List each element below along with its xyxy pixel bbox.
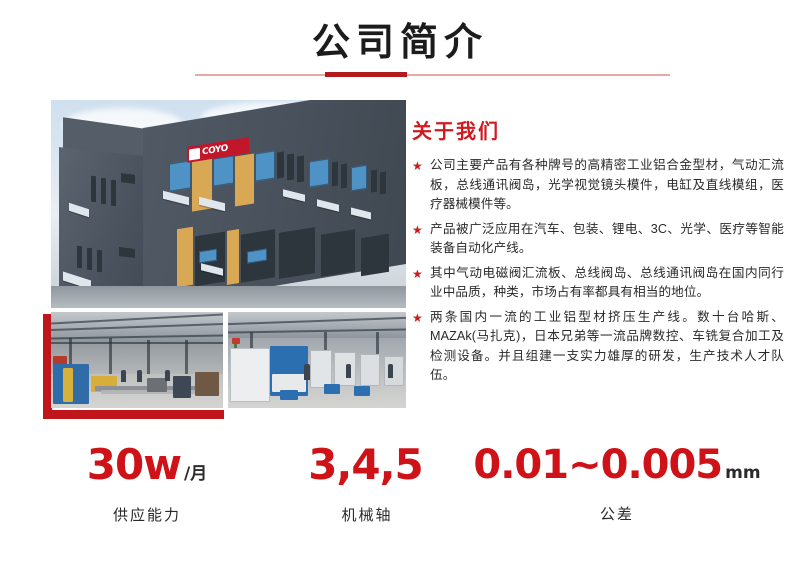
logo-mark-icon xyxy=(189,147,200,160)
header: 公司简介 xyxy=(0,18,800,66)
title-underline xyxy=(195,74,670,76)
factory-photo-right xyxy=(228,312,406,408)
stat-machine-axes: 3,4,5 机械轴 xyxy=(272,440,462,525)
about-us-heading: 关于我们 xyxy=(412,118,784,144)
title-underline-accent xyxy=(325,72,407,77)
star-icon: ★ xyxy=(412,265,423,285)
list-item-text: 两条国内一流的工业铝型材挤压生产线。数十台哈斯、MAZAk(马扎克)，日本兄弟等… xyxy=(430,310,784,383)
list-item: ★ 两条国内一流的工业铝型材挤压生产线。数十台哈斯、MAZAk(马扎克)，日本兄… xyxy=(412,308,784,386)
stat-tolerance: 0.01~0.005mm 公差 xyxy=(462,440,772,525)
stat-value: 30w xyxy=(87,440,181,489)
company-profile-page: 公司简介 xyxy=(0,0,800,573)
building-ground xyxy=(51,286,406,308)
page-title: 公司简介 xyxy=(0,18,800,66)
list-item: ★ 其中气动电磁阀汇流板、总线阀岛、总线通讯阀岛在国内同行业中品质，种类，市场占… xyxy=(412,264,784,303)
stats-row: 30w/月 供应能力 3,4,5 机械轴 0.01~0.005mm 公差 xyxy=(0,440,800,525)
stat-value: 0.01~0.005 xyxy=(473,442,722,488)
factory-photo-left xyxy=(51,312,223,408)
stat-value-group: 0.01~0.005mm xyxy=(462,440,772,498)
stat-unit: mm xyxy=(725,463,760,483)
photo-gallery: COYO xyxy=(51,100,406,412)
list-item-text: 产品被广泛应用在汽车、包装、锂电、3C、光学、医疗等智能装备自动化产线。 xyxy=(430,222,784,256)
star-icon: ★ xyxy=(412,157,423,177)
list-item-text: 其中气动电磁阀汇流板、总线阀岛、总线通讯阀岛在国内同行业中品质，种类，市场占有率… xyxy=(430,266,784,300)
list-item: ★ 公司主要产品有各种牌号的高精密工业铝合金型材，气动汇流板，总线通讯阀岛，光学… xyxy=(412,156,784,215)
stat-value: 3,4,5 xyxy=(308,440,423,489)
list-item: ★ 产品被广泛应用在汽车、包装、锂电、3C、光学、医疗等智能装备自动化产线。 xyxy=(412,220,784,259)
building-photo: COYO xyxy=(51,100,406,308)
stat-label: 机械轴 xyxy=(272,505,462,525)
about-us-section: 关于我们 ★ 公司主要产品有各种牌号的高精密工业铝合金型材，气动汇流板，总线通讯… xyxy=(412,118,784,391)
stat-label: 供应能力 xyxy=(22,505,272,525)
stat-value-group: 30w/月 xyxy=(22,440,272,499)
list-item-text: 公司主要产品有各种牌号的高精密工业铝合金型材，气动汇流板，总线通讯阀岛，光学视觉… xyxy=(430,158,784,211)
stat-unit: /月 xyxy=(184,464,207,484)
stat-label: 公差 xyxy=(462,504,772,524)
logo-wordmark: COYO xyxy=(202,143,228,157)
stat-supply-capacity: 30w/月 供应能力 xyxy=(22,440,272,525)
star-icon: ★ xyxy=(412,309,423,329)
about-bullet-list: ★ 公司主要产品有各种牌号的高精密工业铝合金型材，气动汇流板，总线通讯阀岛，光学… xyxy=(412,156,784,386)
star-icon: ★ xyxy=(412,221,423,241)
stat-value-group: 3,4,5 xyxy=(272,440,462,499)
